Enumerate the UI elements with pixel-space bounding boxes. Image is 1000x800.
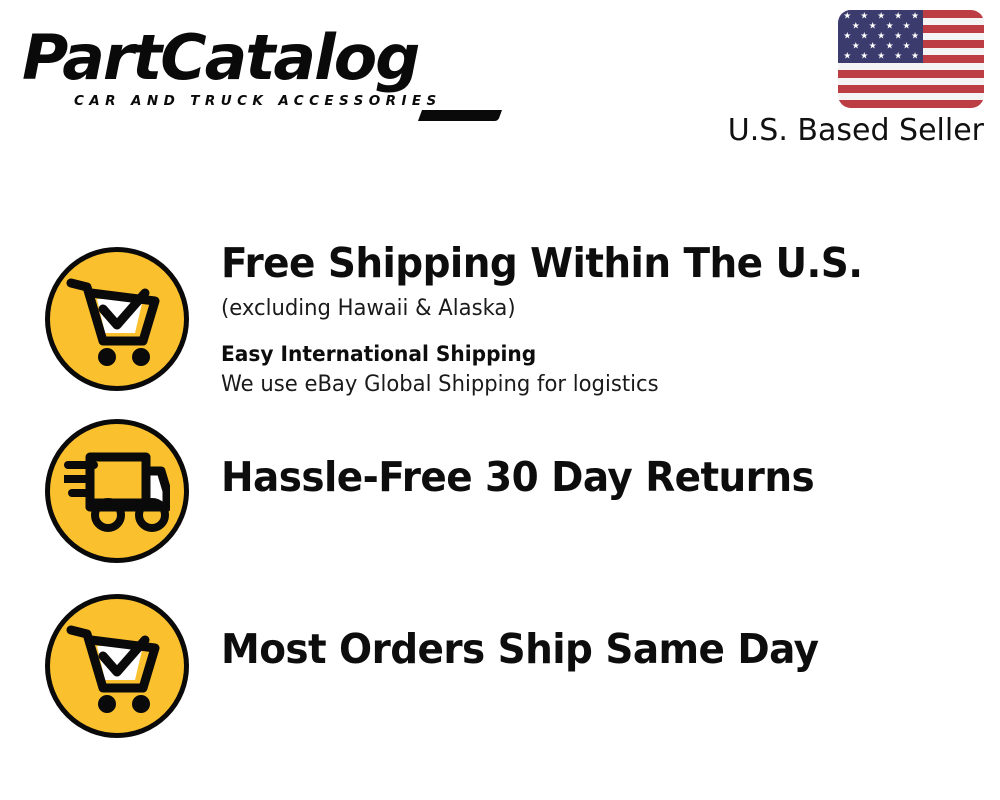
shopping-cart-check-icon xyxy=(45,247,189,391)
feature-subnote: We use eBay Global Shipping for logistic… xyxy=(221,369,969,401)
us-flag-icon: ★ ★ ★ ★ ★ ★ ★ ★ ★ ★ ★ ★ ★ ★ ★ ★ ★ ★ ★ ★ xyxy=(838,10,984,108)
feature-note: (excluding Hawaii & Alaska) xyxy=(221,292,969,326)
feature-text-block: Most Orders Ship Same Day xyxy=(189,586,1000,674)
feature-subheading: Easy International Shipping xyxy=(221,339,969,369)
feature-row: Hassle-Free 30 Day Returns xyxy=(0,414,1000,586)
feature-row: Free Shipping Within The U.S. (excluding… xyxy=(0,238,1000,414)
feature-text-block: Free Shipping Within The U.S. (excluding… xyxy=(189,238,1000,401)
feature-text-block: Hassle-Free 30 Day Returns xyxy=(189,414,1000,502)
promo-banner: PartCatalog CAR AND TRUCK ACCESSORIES ★ … xyxy=(0,0,1000,800)
feature-heading: Hassle-Free 30 Day Returns xyxy=(221,452,961,502)
brand-wordmark: PartCatalog xyxy=(22,24,501,92)
us-based-seller-label: U.S. Based Seller xyxy=(724,112,986,150)
delivery-truck-icon xyxy=(45,419,189,563)
feature-row: Most Orders Ship Same Day xyxy=(0,586,1000,758)
feature-heading: Most Orders Ship Same Day xyxy=(221,624,961,674)
flag-canton: ★ ★ ★ ★ ★ ★ ★ ★ ★ ★ ★ ★ ★ ★ ★ ★ ★ ★ ★ ★ xyxy=(838,10,923,63)
feature-list: Free Shipping Within The U.S. (excluding… xyxy=(0,238,1000,758)
brand-logo[interactable]: PartCatalog CAR AND TRUCK ACCESSORIES xyxy=(22,24,492,114)
brand-underline-swoosh xyxy=(418,110,502,121)
us-based-seller-badge: ★ ★ ★ ★ ★ ★ ★ ★ ★ ★ ★ ★ ★ ★ ★ ★ ★ ★ ★ ★ xyxy=(724,10,986,150)
shopping-cart-check-icon xyxy=(45,594,189,738)
brand-tagline: CAR AND TRUCK ACCESSORIES xyxy=(74,93,492,109)
feature-heading: Free Shipping Within The U.S. xyxy=(221,238,961,288)
